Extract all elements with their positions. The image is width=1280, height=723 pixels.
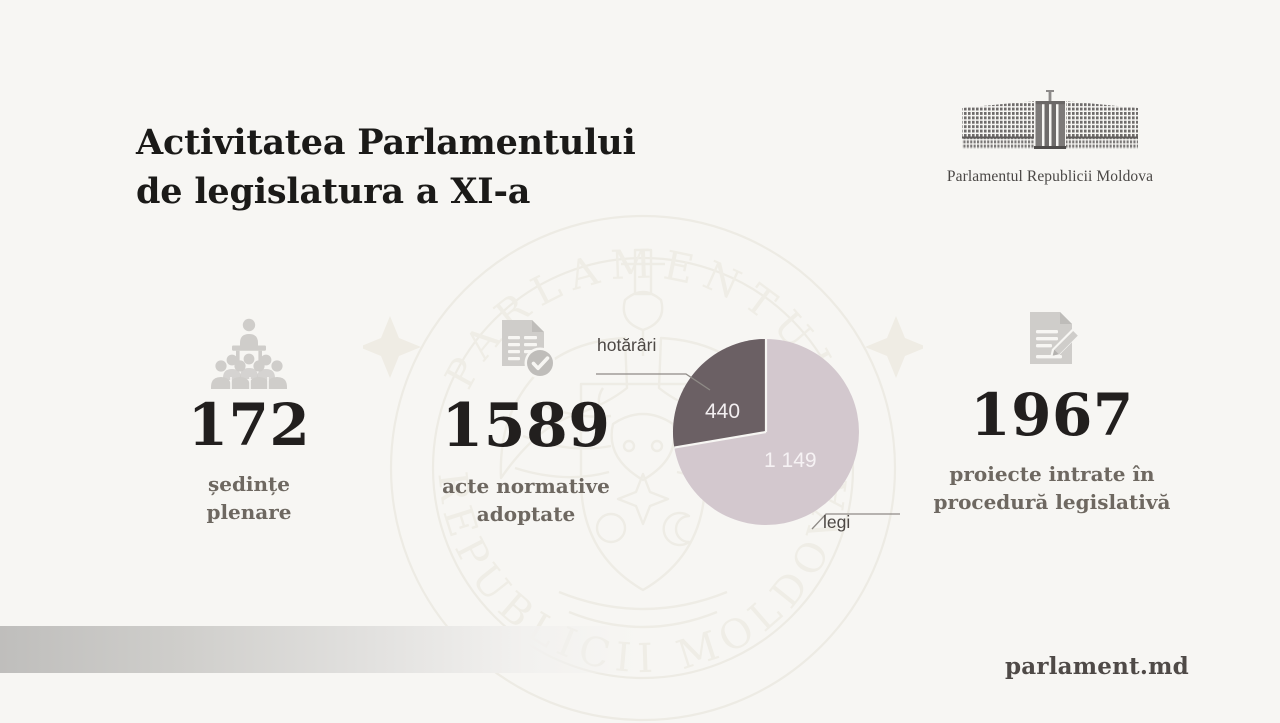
stat-caption-acte-line-1: acte normative — [442, 474, 610, 498]
stat-caption-proiecte-line-2: procedură legislativă — [934, 490, 1171, 514]
stat-value-proiecte: 1967 — [928, 386, 1176, 444]
pie-value-hotarari: 440 — [705, 400, 740, 424]
stat-caption-sedinte-line-1: ședințe — [208, 472, 290, 496]
page-title-line-2: de legislatura a XI-a — [136, 168, 756, 216]
stat-caption-proiecte: proiecte intrate în procedură legislativ… — [928, 461, 1176, 516]
pie-value-legi: 1 149 — [764, 449, 817, 473]
stat-caption-proiecte-line-1: proiecte intrate în — [949, 462, 1154, 486]
footer-website-url: parlament.md — [1005, 653, 1189, 680]
parliament-logo-caption: Parlamentul Republicii Moldova — [925, 168, 1175, 186]
pie-chart: hotărâri legi 440 1 149 — [588, 322, 908, 552]
pie-label-hotarari: hotărâri — [597, 335, 656, 356]
parliament-building-icon — [925, 90, 1175, 161]
infographic-canvas: PARLAMENTUL REPUBLICII MOLDOVA — [0, 0, 1280, 723]
stat-block-proiecte-legislative: 1967 proiecte intrate în procedură legis… — [928, 306, 1176, 516]
parliament-logo: Parlamentul Republicii Moldova — [925, 90, 1175, 186]
page-title-line-1: Activitatea Parlamentului — [136, 119, 756, 167]
bottom-accent-bar — [0, 626, 640, 673]
audience-presentation-icon — [149, 316, 349, 390]
stat-caption-sedinte-line-2: plenare — [206, 500, 291, 524]
stat-value-sedinte: 172 — [149, 396, 349, 454]
page-title: Activitatea Parlamentului de legislatura… — [136, 119, 756, 216]
pie-label-legi: legi — [823, 512, 850, 533]
stat-caption-acte-line-2: adoptate — [477, 502, 575, 526]
stat-caption-sedinte: ședințe plenare — [149, 471, 349, 526]
stat-block-sedinte-plenare: 172 ședințe plenare — [149, 316, 349, 526]
pie-slice-hotarari — [673, 339, 766, 448]
document-pencil-icon — [928, 306, 1176, 380]
